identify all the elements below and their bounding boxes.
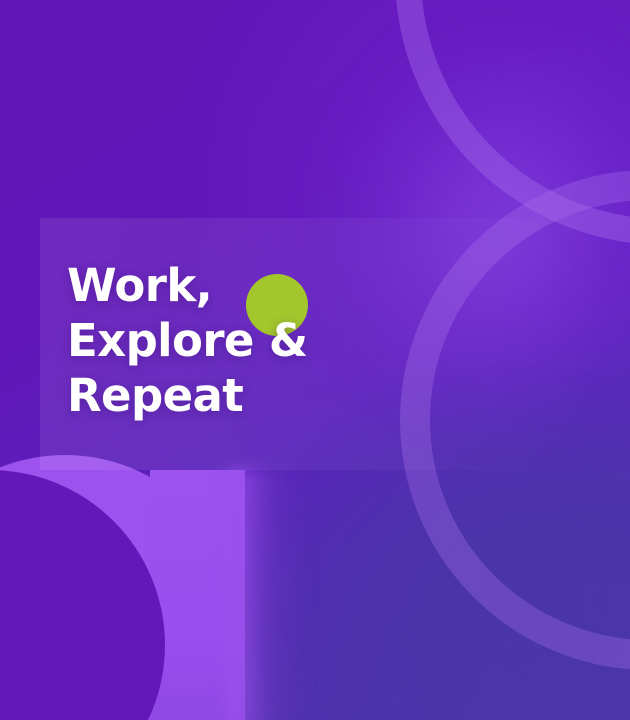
page-title: Work, Explore & Repeat: [67, 258, 397, 423]
crescent-tail-fade: [228, 470, 308, 720]
hero-banner: Work, Explore & Repeat: [0, 0, 630, 720]
